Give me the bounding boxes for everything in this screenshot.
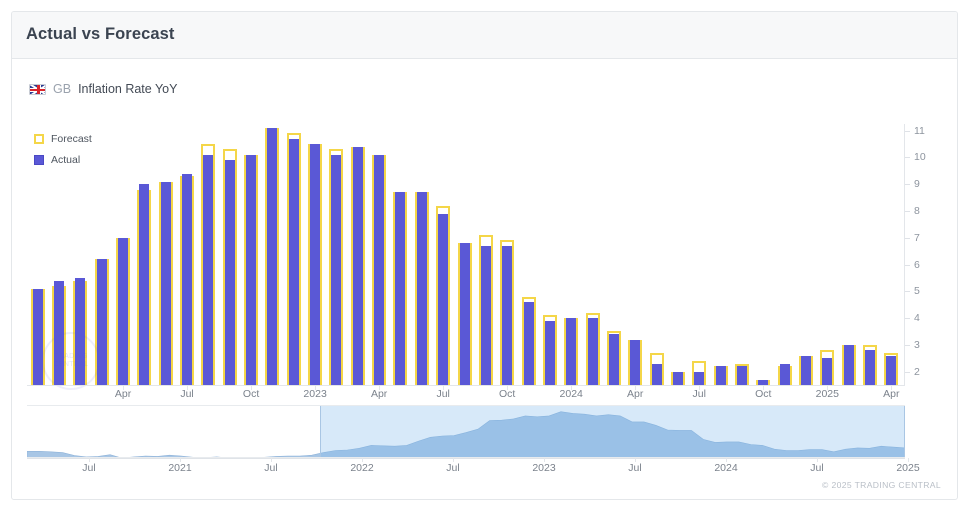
actual-bar[interactable] (822, 358, 832, 385)
y-axis-label: 4 (914, 312, 920, 324)
bar-chart-plot[interactable] (27, 120, 902, 385)
navigator-axis-label: 2024 (714, 462, 737, 474)
actual-bar[interactable] (780, 364, 790, 385)
y-axis-tick (905, 291, 910, 292)
actual-bar[interactable] (524, 302, 534, 385)
actual-bar[interactable] (566, 318, 576, 385)
y-axis-label: 2 (914, 366, 920, 378)
actual-bar[interactable] (630, 340, 640, 386)
actual-bar[interactable] (33, 289, 43, 385)
navigator-handle-left[interactable] (320, 406, 321, 458)
navigator-axis-label: Jul (264, 462, 277, 474)
copyright-credit: © 2025 TRADING CENTRAL (822, 480, 941, 490)
actual-bar[interactable] (673, 372, 683, 385)
x-axis-label: Oct (499, 388, 515, 400)
y-axis-tick (905, 238, 910, 239)
actual-bar[interactable] (694, 372, 704, 385)
page-title: Actual vs Forecast (26, 25, 175, 44)
y-axis-label: 8 (914, 205, 920, 217)
navigator-axis-label: Jul (810, 462, 823, 474)
navigator-axis-label: 2022 (350, 462, 373, 474)
actual-bar[interactable] (97, 259, 107, 385)
actual-bar[interactable] (139, 184, 149, 385)
navigator-axis-label: Jul (82, 462, 95, 474)
actual-bar[interactable] (609, 334, 619, 385)
y-axis-tick (905, 131, 910, 132)
y-axis-tick (905, 265, 910, 266)
chart-card: Actual vs Forecast GB Inflation Rate YoY… (11, 11, 958, 500)
x-axis-label: 2023 (303, 388, 326, 400)
y-axis-tick (905, 345, 910, 346)
x-axis-label: Oct (243, 388, 259, 400)
actual-bar[interactable] (801, 356, 811, 385)
y-axis-tick (905, 372, 910, 373)
actual-bar[interactable] (844, 345, 854, 385)
actual-bar[interactable] (502, 246, 512, 385)
x-axis-label: Apr (115, 388, 131, 400)
x-axis-label: Apr (627, 388, 643, 400)
actual-bar[interactable] (481, 246, 491, 385)
actual-bar[interactable] (267, 128, 277, 385)
actual-bar[interactable] (310, 144, 320, 385)
x-axis-label: Apr (883, 388, 899, 400)
actual-bar[interactable] (417, 192, 427, 385)
y-axis-tick (905, 318, 910, 319)
actual-bar[interactable] (161, 182, 171, 385)
y-axis-tick (905, 184, 910, 185)
actual-bar[interactable] (289, 139, 299, 385)
navigator-axis-label: 2025 (896, 462, 919, 474)
actual-bar[interactable] (331, 155, 341, 385)
actual-bar[interactable] (118, 238, 128, 385)
x-axis-label: Oct (755, 388, 771, 400)
actual-bar[interactable] (438, 214, 448, 385)
actual-bar[interactable] (374, 155, 384, 385)
actual-bar[interactable] (886, 356, 896, 385)
y-axis-line (904, 124, 905, 385)
actual-bar[interactable] (54, 281, 64, 385)
y-axis-label: 3 (914, 339, 920, 351)
navigator-axis-line (27, 458, 905, 459)
x-axis-label: 2025 (816, 388, 839, 400)
actual-bar[interactable] (652, 364, 662, 385)
x-axis-label: 2024 (560, 388, 583, 400)
y-axis-label: 11 (914, 125, 925, 137)
range-navigator[interactable] (27, 405, 905, 458)
navigator-axis-label: Jul (628, 462, 641, 474)
y-axis-label: 6 (914, 259, 920, 271)
actual-vs-forecast-widget: Actual vs Forecast GB Inflation Rate YoY… (0, 0, 969, 511)
actual-bar[interactable] (545, 321, 555, 385)
actual-bar[interactable] (225, 160, 235, 385)
gb-flag-icon (29, 84, 46, 95)
y-axis-tick (905, 157, 910, 158)
y-axis-tick (905, 211, 910, 212)
actual-bar[interactable] (737, 366, 747, 385)
country-code: GB (53, 82, 71, 96)
navigator-axis-label: 2023 (532, 462, 555, 474)
instrument-name: Inflation Rate YoY (78, 82, 177, 96)
actual-bar[interactable] (460, 243, 470, 385)
actual-bar[interactable] (395, 192, 405, 385)
navigator-handle-right[interactable] (904, 406, 905, 458)
actual-bar[interactable] (75, 278, 85, 385)
navigator-axis-label: 2021 (168, 462, 191, 474)
actual-bar[interactable] (203, 155, 213, 385)
card-header: Actual vs Forecast (12, 12, 957, 59)
navigator-area-series (27, 406, 905, 458)
instrument-row: GB Inflation Rate YoY (29, 82, 177, 96)
x-axis-line (27, 385, 905, 386)
y-axis-label: 9 (914, 178, 920, 190)
actual-bar[interactable] (353, 147, 363, 385)
navigator-axis-label: Jul (446, 462, 459, 474)
actual-bar[interactable] (588, 318, 598, 385)
x-axis-label: Apr (371, 388, 387, 400)
x-axis-label: Jul (436, 388, 449, 400)
actual-bar[interactable] (865, 350, 875, 385)
actual-bar[interactable] (716, 366, 726, 385)
actual-bar[interactable] (182, 174, 192, 385)
y-axis-label: 7 (914, 232, 920, 244)
x-axis-label: Jul (180, 388, 193, 400)
y-axis-label: 10 (914, 151, 926, 163)
y-axis-label: 5 (914, 285, 920, 297)
actual-bar[interactable] (246, 155, 256, 385)
x-axis-label: Jul (693, 388, 706, 400)
